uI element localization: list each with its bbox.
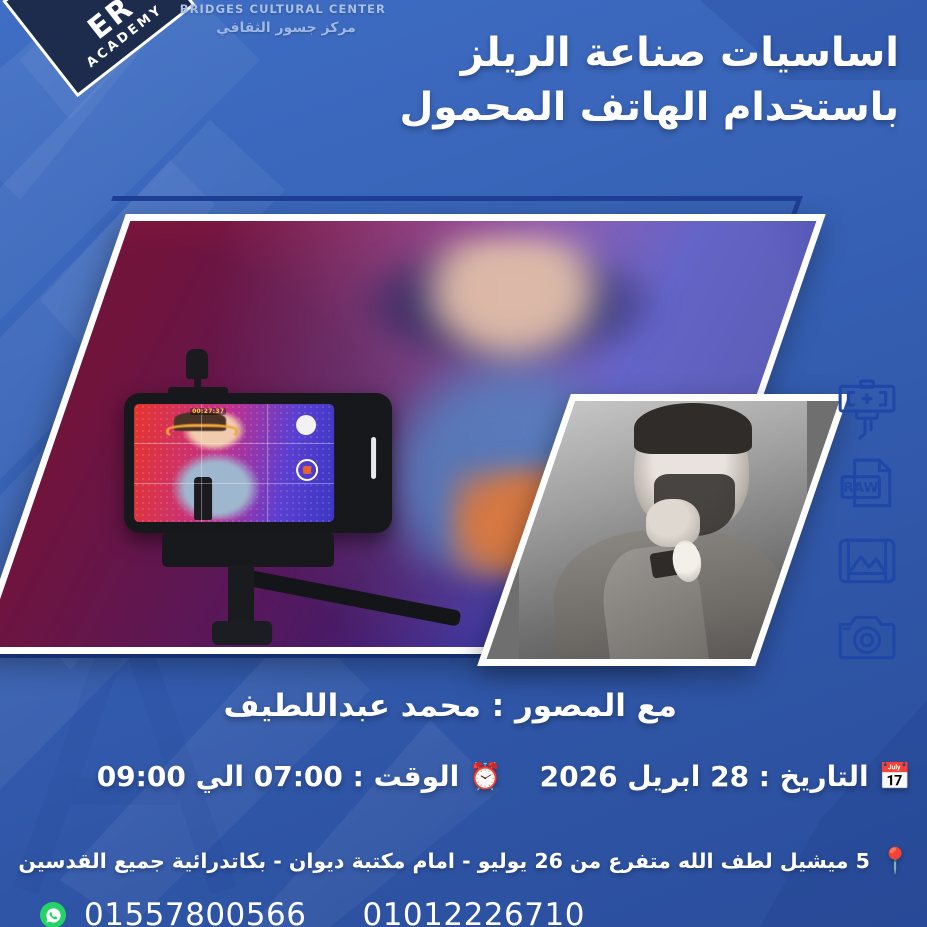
camera-icon [830,606,904,668]
raw-file-icon: RAW [830,454,904,516]
tripod-head [162,533,334,567]
poster-root: ER ACADEMY BRIDGES CULTURAL CENTER مركز … [0,0,927,927]
recording-timer: 00:27:37 [190,408,226,415]
whatsapp-icon[interactable] [40,902,66,927]
photo-collage: 00:27:37 [22,198,812,668]
portrait-backdrop [519,394,807,666]
tripod-mount-icon [830,378,904,440]
tripod-base [212,621,272,645]
poster-title: اساسيات صناعة الريلز باستخدام الهاتف الم… [159,26,899,135]
title-line-1: اساسيات صناعة الريلز [159,26,899,81]
portrait-hand [646,499,701,547]
calendar-icon: 📅 [879,764,911,790]
phone-side-button [371,437,376,479]
tripod-column [228,565,254,627]
svg-text:RAW: RAW [843,481,878,496]
location-pin-icon: 📍 [880,848,911,873]
phone-number-2[interactable]: 01012226710 [362,897,584,927]
phone-number-1[interactable]: 01557800566 [84,897,306,927]
date-label: التاريخ : 28 ابريل 2026 [540,760,869,793]
instructor-line: مع المصور : محمد عبداللطيف [224,688,677,724]
phone-screen: 00:27:37 [134,404,334,522]
title-line-2: باستخدام الهاتف المحمول [159,81,899,135]
landscape-photo-icon [830,530,904,592]
equipment-icon-column: RAW [821,378,913,668]
shotgun-mic-icon [186,349,208,379]
time-label: الوقت : 07:00 الي 09:00 [97,760,460,793]
address-row: 📍 5 ميشيل لطف الله متفرع من 26 يوليو - ا… [16,848,911,873]
address-text: 5 ميشيل لطف الله متفرع من 26 يوليو - اما… [18,849,869,873]
clock-icon: ⏰ [469,764,501,790]
center-name-english: BRIDGES CULTURAL CENTER [186,2,386,16]
portrait-hair [634,403,752,454]
date-time-row: 📅 التاريخ : 28 ابريل 2026 ⏰ الوقت : 07:0… [16,760,911,793]
contact-row: 01557800566 01012226710 [40,897,585,927]
smartphone-body: 00:27:37 [124,393,392,533]
phone-tripod-rig: 00:27:37 [124,393,392,643]
shutter-button-icon [296,415,316,435]
